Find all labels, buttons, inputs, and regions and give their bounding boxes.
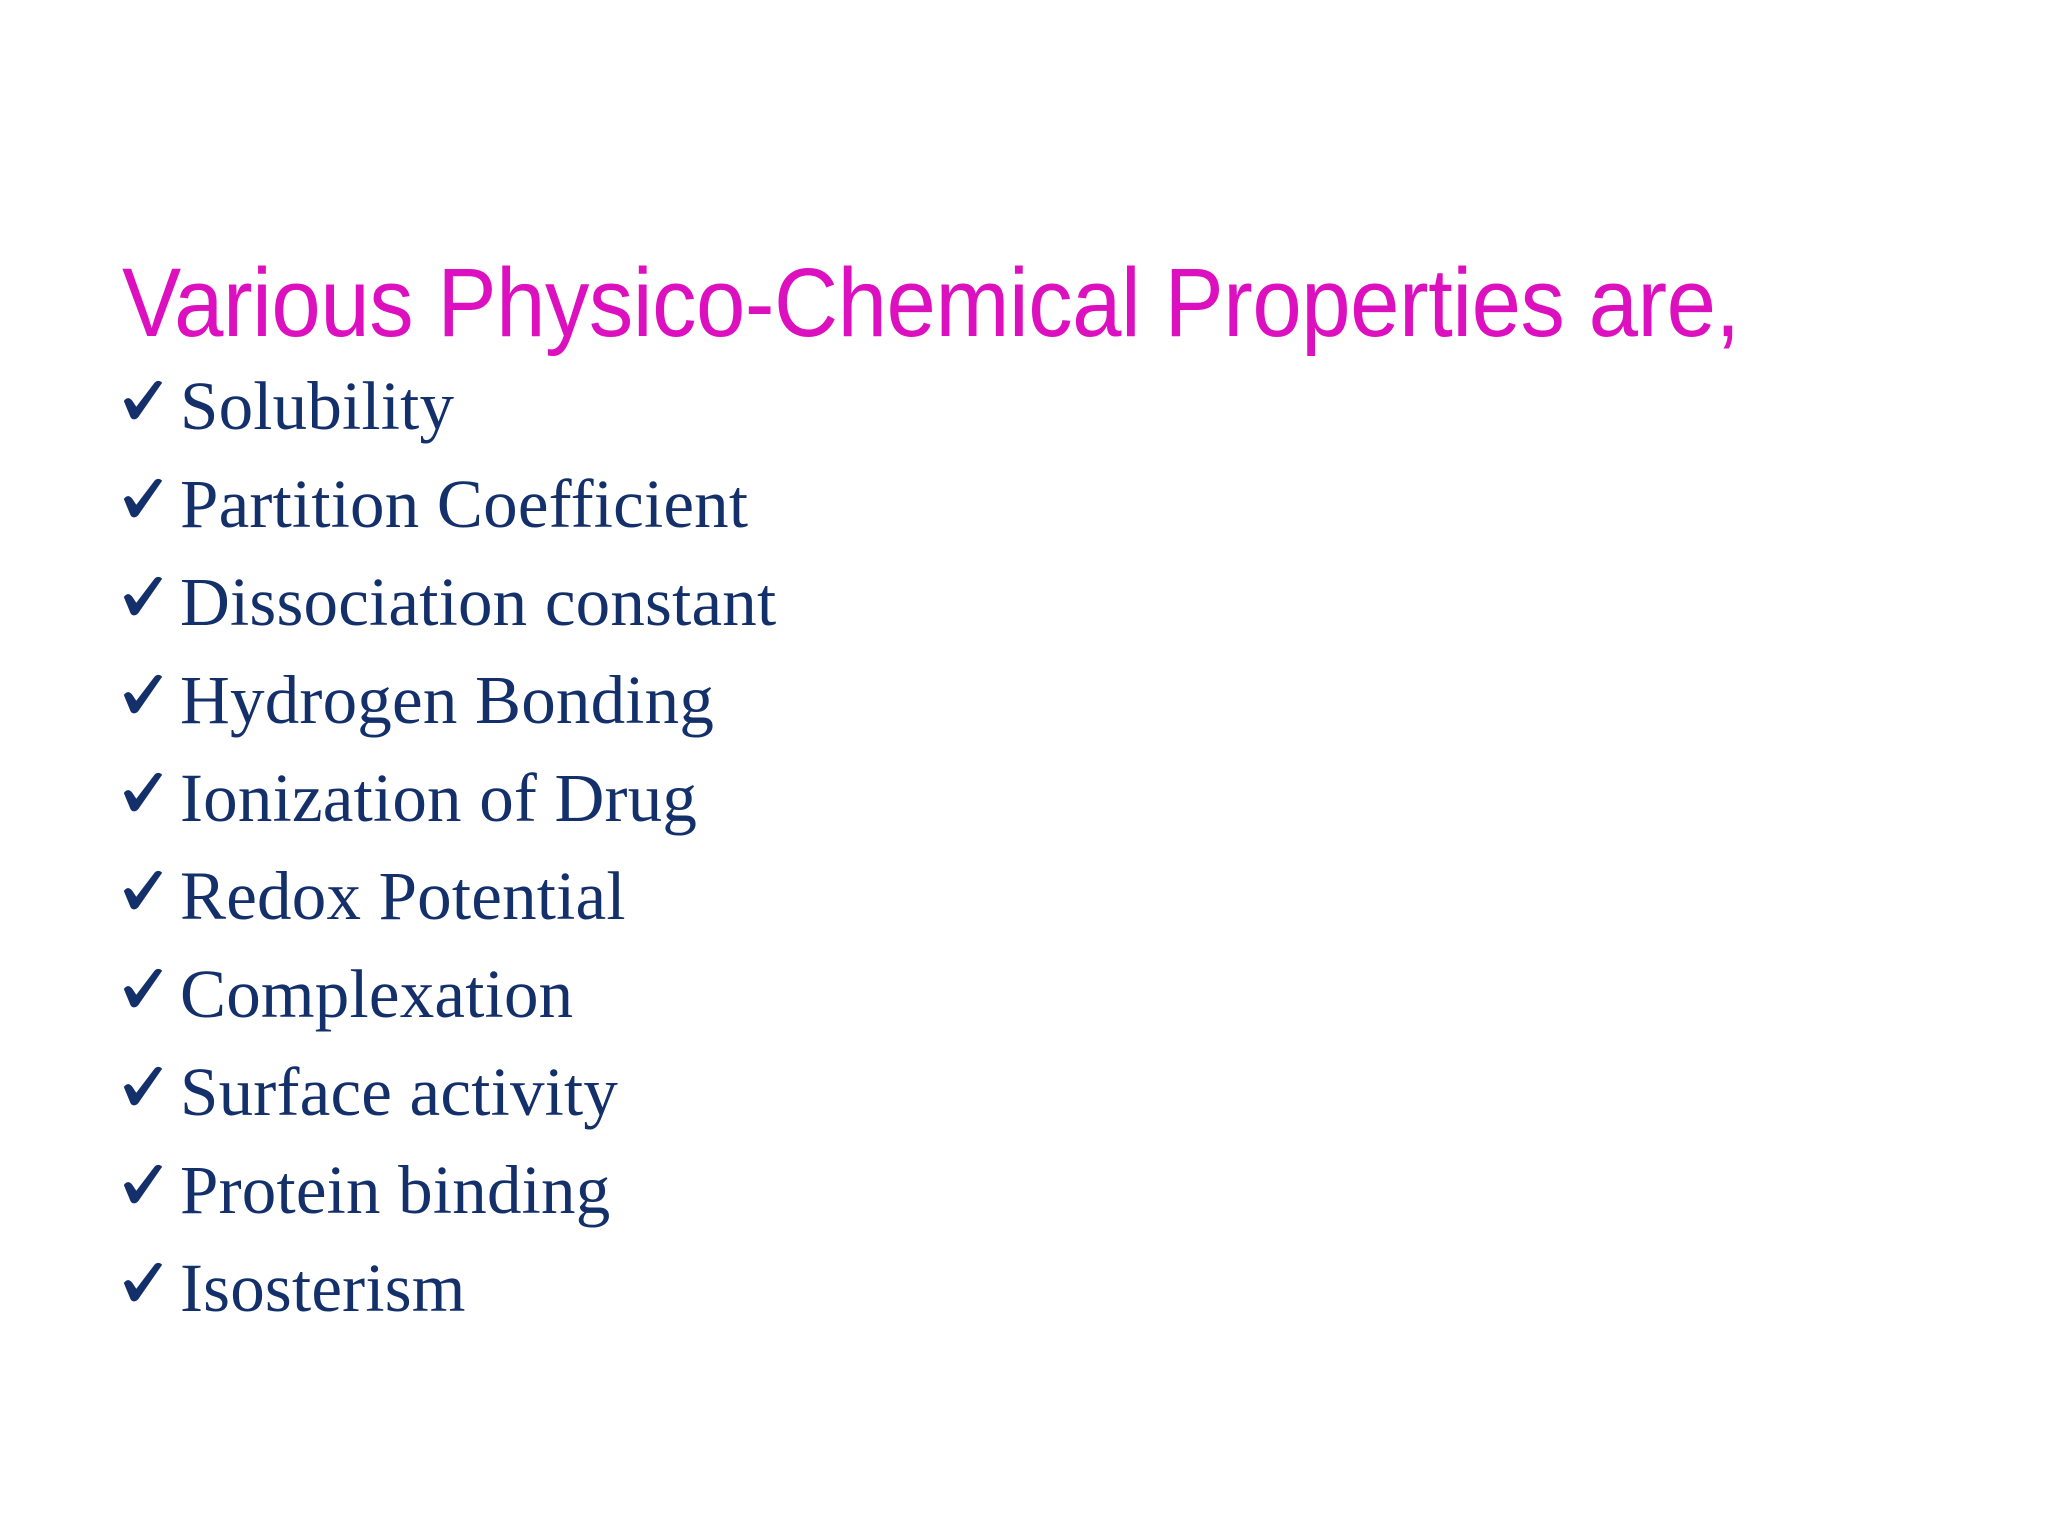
list-item-label: Redox Potential [180, 862, 626, 931]
list-item-label: Solubility [180, 372, 454, 441]
check-mark-icon [120, 769, 180, 815]
list-item: Isosterism [120, 1254, 1940, 1352]
check-mark-icon [120, 1063, 180, 1109]
list-item: Surface activity [120, 1058, 1940, 1156]
list-item-label: Dissociation constant [180, 568, 776, 637]
list-item-label: Protein binding [180, 1156, 610, 1225]
check-mark-icon [120, 965, 180, 1011]
slide-title: Various Physico-Chemical Properties are, [122, 251, 1769, 356]
check-mark-icon [120, 867, 180, 913]
check-mark-icon [120, 573, 180, 619]
list-item: Protein binding [120, 1156, 1940, 1254]
list-item: Ionization of Drug [120, 764, 1940, 862]
list-item-label: Partition Coefficient [180, 470, 748, 539]
list-item-label: Hydrogen Bonding [180, 666, 714, 735]
list-item: Partition Coefficient [120, 470, 1940, 568]
presentation-slide: Various Physico-Chemical Properties are,… [0, 0, 2048, 1536]
list-item: Hydrogen Bonding [120, 666, 1940, 764]
check-mark-icon [120, 377, 180, 423]
check-mark-icon [120, 1259, 180, 1305]
list-item-label: Complexation [180, 960, 573, 1029]
list-item-label: Isosterism [180, 1254, 466, 1323]
list-item-label: Ionization of Drug [180, 764, 697, 833]
list-item: Solubility [120, 372, 1940, 470]
check-mark-icon [120, 671, 180, 717]
list-item: Redox Potential [120, 862, 1940, 960]
list-item: Dissociation constant [120, 568, 1940, 666]
check-mark-icon [120, 1161, 180, 1207]
list-item-label: Surface activity [180, 1058, 618, 1127]
list-item: Complexation [120, 960, 1940, 1058]
check-mark-icon [120, 475, 180, 521]
properties-bullet-list: Solubility Partition Coefficient Dissoci… [120, 372, 1940, 1352]
